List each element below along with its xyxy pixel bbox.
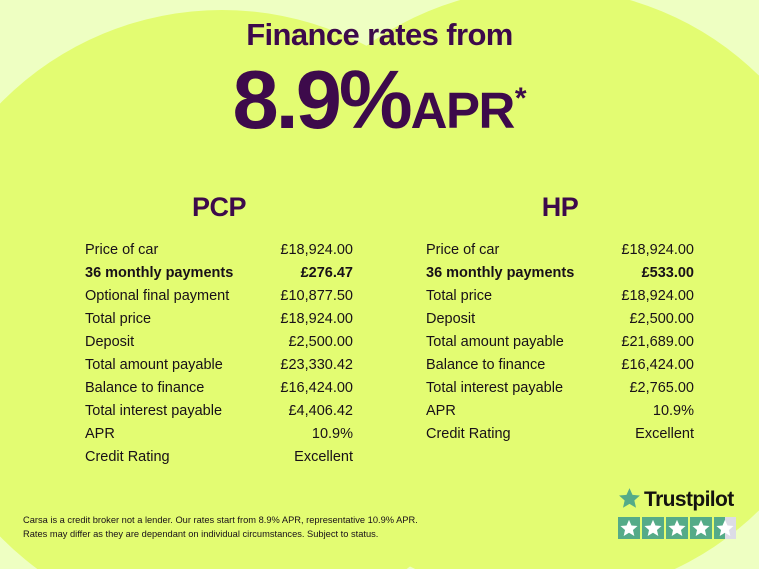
plan-row-label: Price of car bbox=[426, 239, 499, 262]
finance-rates-graphic: Finance rates from 8.9% APR * PCP Price … bbox=[0, 0, 759, 569]
plan-row-value: £23,330.42 bbox=[280, 354, 353, 377]
plan-row-label: Balance to finance bbox=[85, 377, 204, 400]
disclaimer-line-1: Carsa is a credit broker not a lender. O… bbox=[23, 513, 443, 527]
plan-row-label: Total amount payable bbox=[85, 354, 223, 377]
plan-hp: HP Price of car£18,924.0036 monthly paym… bbox=[426, 192, 694, 446]
trustpilot-star bbox=[618, 517, 640, 539]
star-glyph-icon bbox=[692, 519, 710, 537]
plan-row: 36 monthly payments£533.00 bbox=[426, 262, 694, 285]
headline-block: Finance rates from 8.9% APR * bbox=[0, 18, 759, 141]
plan-row-label: Total price bbox=[426, 285, 492, 308]
plan-row-value: £18,924.00 bbox=[621, 285, 694, 308]
plan-row: Deposit£2,500.00 bbox=[426, 308, 694, 331]
plan-row-label: APR bbox=[426, 400, 456, 423]
headline-top-line: Finance rates from bbox=[0, 18, 759, 52]
plan-row-label: APR bbox=[85, 423, 115, 446]
plan-row: APR10.9% bbox=[426, 400, 694, 423]
plan-row: Total amount payable£23,330.42 bbox=[85, 354, 353, 377]
plan-row-label: 36 monthly payments bbox=[85, 262, 233, 285]
plan-row: Total interest payable£2,765.00 bbox=[426, 377, 694, 400]
plan-row: Total price£18,924.00 bbox=[85, 308, 353, 331]
plan-row: Price of car£18,924.00 bbox=[426, 239, 694, 262]
star-glyph-icon bbox=[668, 519, 686, 537]
plan-row-value: Excellent bbox=[294, 446, 353, 469]
plan-hp-rows: Price of car£18,924.0036 monthly payment… bbox=[426, 239, 694, 446]
headline-asterisk: * bbox=[515, 84, 527, 114]
trustpilot-star bbox=[690, 517, 712, 539]
plan-row: APR10.9% bbox=[85, 423, 353, 446]
plan-row: Total price£18,924.00 bbox=[426, 285, 694, 308]
trustpilot-wordmark: Trustpilot bbox=[618, 488, 744, 512]
plan-row-value: £18,924.00 bbox=[621, 239, 694, 262]
trustpilot-star bbox=[666, 517, 688, 539]
plan-row: Total amount payable£21,689.00 bbox=[426, 331, 694, 354]
plan-row-label: Optional final payment bbox=[85, 285, 229, 308]
plan-row-value: £4,406.42 bbox=[288, 400, 353, 423]
plan-row-value: £18,924.00 bbox=[280, 239, 353, 262]
plan-row: Deposit£2,500.00 bbox=[85, 331, 353, 354]
plan-row-label: Total interest payable bbox=[426, 377, 563, 400]
plan-row: Optional final payment£10,877.50 bbox=[85, 285, 353, 308]
plan-row-value: £16,424.00 bbox=[621, 354, 694, 377]
plan-row-label: 36 monthly payments bbox=[426, 262, 574, 285]
plan-row-value: 10.9% bbox=[653, 400, 694, 423]
plan-row-label: Deposit bbox=[85, 331, 134, 354]
trustpilot-widget[interactable]: Trustpilot bbox=[618, 488, 744, 539]
disclaimer-text: Carsa is a credit broker not a lender. O… bbox=[23, 513, 443, 542]
headline-rate-value: 8.9% bbox=[232, 58, 409, 141]
plan-row-label: Balance to finance bbox=[426, 354, 545, 377]
plan-pcp-rows: Price of car£18,924.0036 monthly payment… bbox=[85, 239, 353, 469]
plan-row-value: £16,424.00 bbox=[280, 377, 353, 400]
plan-row: Credit RatingExcellent bbox=[85, 446, 353, 469]
star-glyph-icon bbox=[716, 519, 734, 537]
plan-row-label: Total interest payable bbox=[85, 400, 222, 423]
plan-row-value: £10,877.50 bbox=[280, 285, 353, 308]
trustpilot-star bbox=[714, 517, 736, 539]
plan-row-value: £533.00 bbox=[642, 262, 694, 285]
star-glyph-icon bbox=[620, 519, 638, 537]
plan-row: Total interest payable£4,406.42 bbox=[85, 400, 353, 423]
trustpilot-star bbox=[642, 517, 664, 539]
trustpilot-star-rating bbox=[618, 517, 744, 539]
plan-row: Balance to finance£16,424.00 bbox=[85, 377, 353, 400]
headline-rate-row: 8.9% APR * bbox=[0, 58, 759, 141]
plan-row-value: £21,689.00 bbox=[621, 331, 694, 354]
plan-row-label: Deposit bbox=[426, 308, 475, 331]
plan-row: Credit RatingExcellent bbox=[426, 423, 694, 446]
plan-row-value: 10.9% bbox=[312, 423, 353, 446]
plan-row-label: Credit Rating bbox=[85, 446, 170, 469]
plan-row-label: Credit Rating bbox=[426, 423, 511, 446]
trustpilot-star-icon bbox=[618, 487, 641, 514]
plan-row-label: Total price bbox=[85, 308, 151, 331]
plan-row-label: Price of car bbox=[85, 239, 158, 262]
plan-hp-title: HP bbox=[426, 192, 694, 223]
star-glyph-icon bbox=[644, 519, 662, 537]
plan-row-value: £2,500.00 bbox=[629, 308, 694, 331]
plan-row-value: £18,924.00 bbox=[280, 308, 353, 331]
disclaimer-line-2: Rates may differ as they are dependant o… bbox=[23, 527, 443, 541]
plan-row: Price of car£18,924.00 bbox=[85, 239, 353, 262]
plan-row: 36 monthly payments£276.47 bbox=[85, 262, 353, 285]
plan-row-value: £2,500.00 bbox=[288, 331, 353, 354]
plan-pcp-title: PCP bbox=[85, 192, 353, 223]
plan-row-value: Excellent bbox=[635, 423, 694, 446]
plan-row: Balance to finance£16,424.00 bbox=[426, 354, 694, 377]
headline-apr-label: APR bbox=[411, 85, 514, 136]
plan-row-value: £2,765.00 bbox=[629, 377, 694, 400]
plan-row-label: Total amount payable bbox=[426, 331, 564, 354]
trustpilot-name: Trustpilot bbox=[644, 488, 734, 512]
plan-row-value: £276.47 bbox=[301, 262, 353, 285]
plan-pcp: PCP Price of car£18,924.0036 monthly pay… bbox=[85, 192, 353, 469]
